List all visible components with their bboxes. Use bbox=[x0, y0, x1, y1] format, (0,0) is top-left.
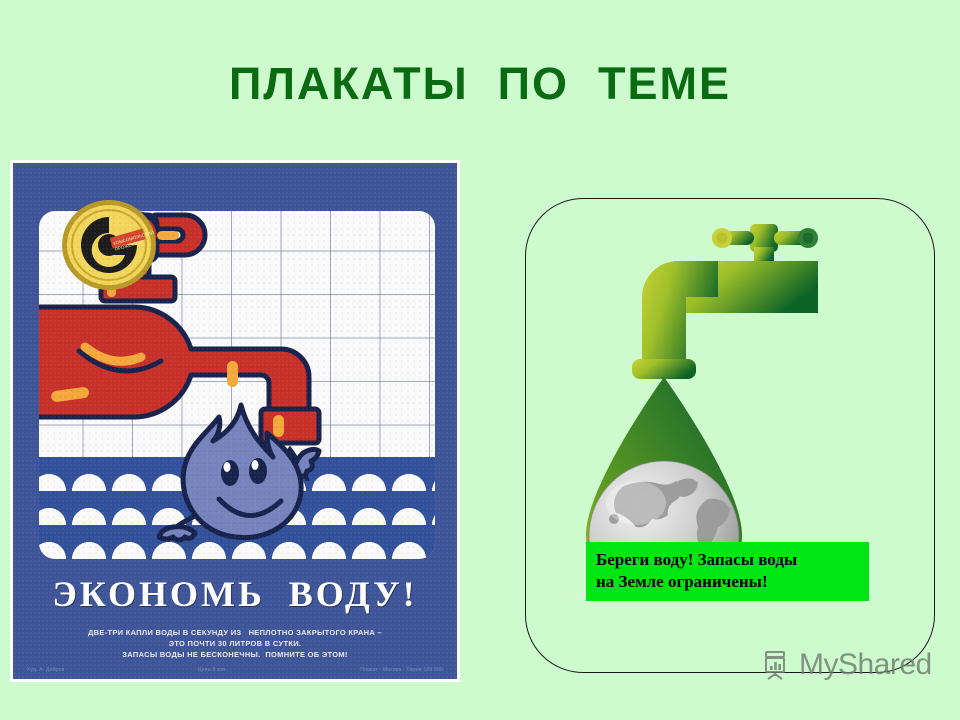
poster-left-image: КОМСОМОЛЬСКИЙ ПРОЖЕКТОР ЭКОНОМЬ ВОДУ! ДВ… bbox=[10, 160, 460, 682]
green-faucet-icon bbox=[632, 224, 818, 379]
water-drop-mascot-icon bbox=[157, 399, 347, 559]
poster-headline: ЭКОНОМЬ ВОДУ! bbox=[13, 573, 457, 615]
eco-water-drop-globe-illustration bbox=[526, 199, 936, 599]
credit-right: Плакат · Москва · Тираж 100 000 bbox=[360, 667, 443, 673]
poster-left-canvas: КОМСОМОЛЬСКИЙ ПРОЖЕКТОР ЭКОНОМЬ ВОДУ! ДВ… bbox=[13, 163, 457, 679]
myshared-watermark: MyShared bbox=[762, 648, 932, 682]
credit-left: Худ. А. Добров bbox=[27, 667, 64, 673]
eco-caption-box: Береги воду! Запасы воды на Земле ограни… bbox=[586, 542, 869, 601]
fineprint-line: ЭТО ПОЧТИ 30 ЛИТРОВ В СУТКИ. bbox=[53, 638, 417, 649]
komsomolsky-prozhektor-badge: КОМСОМОЛЬСКИЙ ПРОЖЕКТОР bbox=[59, 197, 159, 293]
poster-caption-block: ЭКОНОМЬ ВОДУ! ДВЕ-ТРИ КАПЛИ ВОДЫ В СЕКУН… bbox=[13, 573, 457, 660]
slide-canvas: ПЛАКАТЫ ПО ТЕМЕ bbox=[0, 0, 960, 720]
poster-credits: Худ. А. Добров Цена 8 коп. Плакат · Моск… bbox=[13, 667, 457, 673]
poster-fineprint: ДВЕ-ТРИ КАПЛИ ВОДЫ В СЕКУНДУ ИЗ НЕПЛОТНО… bbox=[13, 627, 457, 660]
poster-right-frame: Береги воду! Запасы воды на Земле ограни… bbox=[525, 198, 935, 673]
credit-center: Цена 8 коп. bbox=[198, 667, 227, 673]
watermark-label: MyShared bbox=[799, 648, 932, 682]
page-title: ПЛАКАТЫ ПО ТЕМЕ bbox=[0, 58, 960, 110]
fineprint-line: ЗАПАСЫ ВОДЫ НЕ БЕСКОНЕЧНЫ. ПОМНИТЕ ОБ ЭТ… bbox=[53, 649, 417, 660]
eco-caption-line: Береги воду! Запасы воды bbox=[596, 549, 861, 571]
eco-caption-line: на Земле ограничены! bbox=[596, 571, 861, 593]
fineprint-line: ДВЕ-ТРИ КАПЛИ ВОДЫ В СЕКУНДУ ИЗ НЕПЛОТНО… bbox=[53, 627, 417, 638]
presentation-chart-icon bbox=[762, 649, 792, 681]
